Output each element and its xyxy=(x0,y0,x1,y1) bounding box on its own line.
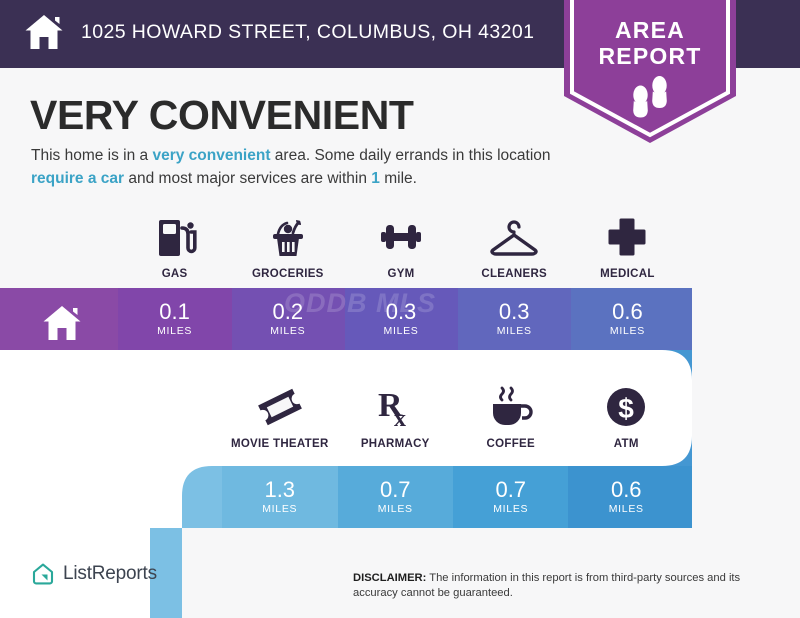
distance-unit: MILES xyxy=(222,503,338,515)
dumbbell-icon xyxy=(378,214,424,260)
property-address: 1025 HOWARD STREET, COLUMBUS, OH 43201 xyxy=(81,21,534,44)
distance-unit: MILES xyxy=(344,325,457,337)
amenity-coffee: COFFEE xyxy=(453,384,569,450)
medical-cross-icon xyxy=(604,214,650,260)
amenity-gym: GYM xyxy=(344,214,457,280)
subtitle-highlight-2: require a car xyxy=(31,170,124,187)
disclaimer-label: DISCLAIMER: xyxy=(353,572,426,584)
amenity-gas: GAS xyxy=(118,214,231,280)
page-subtitle: This home is in a very convenient area. … xyxy=(31,144,576,190)
distance-unit: MILES xyxy=(571,325,684,337)
distance-value: 0.7 xyxy=(453,478,569,502)
amenity-icon-row-1: GAS GROCERIES xyxy=(118,214,684,280)
svg-text:x: x xyxy=(394,406,406,430)
dollar-circle-icon: $ xyxy=(603,384,649,430)
hanger-icon xyxy=(489,214,539,260)
amenity-movie-theater: MOVIE THEATER xyxy=(222,384,338,450)
distance-unit: MILES xyxy=(453,503,569,515)
badge-line-1: AREA xyxy=(564,17,736,43)
amenity-label: CLEANERS xyxy=(481,268,547,280)
distance-value: 0.7 xyxy=(338,478,454,502)
basket-icon xyxy=(265,214,311,260)
amenity-label: ATM xyxy=(614,438,639,450)
subtitle-highlight-1: very convenient xyxy=(152,147,270,164)
gas-pump-icon xyxy=(152,214,198,260)
distance-cell: 1.3 MILES xyxy=(222,478,338,515)
amenity-label: GROCERIES xyxy=(252,268,324,280)
distance-row-1: 0.1 MILES 0.2 MILES 0.3 MILES 0.3 MILES … xyxy=(118,300,684,337)
amenity-pharmacy: R x PHARMACY xyxy=(338,384,454,450)
amenity-icon-row-2: MOVIE THEATER R x PHARMACY COFFEE xyxy=(222,384,684,450)
amenity-label: MOVIE THEATER xyxy=(231,438,329,450)
amenity-cleaners: CLEANERS xyxy=(458,214,571,280)
listreports-logo-text: ListReports xyxy=(63,563,157,585)
distance-value: 0.1 xyxy=(118,300,231,324)
amenity-label: GYM xyxy=(387,268,414,280)
distance-value: 0.2 xyxy=(231,300,344,324)
area-report-badge: AREA REPORT xyxy=(564,0,736,143)
amenity-label: PHARMACY xyxy=(361,438,430,450)
home-icon xyxy=(24,13,64,51)
distance-cell: 0.1 MILES xyxy=(118,300,231,337)
subtitle-part-2: area. Some daily errands in this locatio… xyxy=(271,147,551,164)
area-report-infographic: 1025 HOWARD STREET, COLUMBUS, OH 43201 A… xyxy=(0,0,800,618)
distance-row-2: 1.3 MILES 0.7 MILES 0.7 MILES 0.6 MILES xyxy=(222,478,684,515)
distance-unit: MILES xyxy=(338,503,454,515)
distance-unit: MILES xyxy=(458,325,571,337)
distance-cell: 0.3 MILES xyxy=(344,300,457,337)
subtitle-part-1: This home is in a xyxy=(31,147,152,164)
svg-text:$: $ xyxy=(618,393,634,424)
subtitle-highlight-3: 1 xyxy=(371,170,380,187)
amenity-label: MEDICAL xyxy=(600,268,655,280)
badge-line-2: REPORT xyxy=(564,43,736,69)
ticket-icon xyxy=(255,384,305,430)
amenity-medical: MEDICAL xyxy=(571,214,684,280)
subtitle-part-4: mile. xyxy=(380,170,417,187)
coffee-icon xyxy=(487,384,535,430)
distance-cell: 0.3 MILES xyxy=(458,300,571,337)
distance-cell: 0.6 MILES xyxy=(571,300,684,337)
amenity-label: GAS xyxy=(162,268,188,280)
distance-cell: 0.7 MILES xyxy=(453,478,569,515)
page-title: VERY CONVENIENT xyxy=(30,92,414,139)
distance-value: 0.6 xyxy=(569,478,685,502)
distance-cell: 0.2 MILES xyxy=(231,300,344,337)
distance-value: 0.3 xyxy=(344,300,457,324)
distance-value: 0.3 xyxy=(458,300,571,324)
rx-icon: R x xyxy=(372,384,418,430)
distance-value: 1.3 xyxy=(222,478,338,502)
subtitle-part-3: and most major services are within xyxy=(124,170,371,187)
distance-unit: MILES xyxy=(231,325,344,337)
distance-unit: MILES xyxy=(118,325,231,337)
listreports-house-icon xyxy=(31,562,55,586)
distance-value: 0.6 xyxy=(571,300,684,324)
distance-cell: 0.7 MILES xyxy=(338,478,454,515)
listreports-logo[interactable]: ListReports xyxy=(31,562,157,586)
amenity-atm: $ ATM xyxy=(569,384,685,450)
badge-label: AREA REPORT xyxy=(564,17,736,69)
amenity-groceries: GROCERIES xyxy=(231,214,344,280)
disclaimer: DISCLAIMER: The information in this repo… xyxy=(353,571,783,601)
distance-unit: MILES xyxy=(569,503,685,515)
distance-cell: 0.6 MILES xyxy=(569,478,685,515)
ribbon-home-icon xyxy=(42,304,82,342)
amenity-label: COFFEE xyxy=(487,438,535,450)
